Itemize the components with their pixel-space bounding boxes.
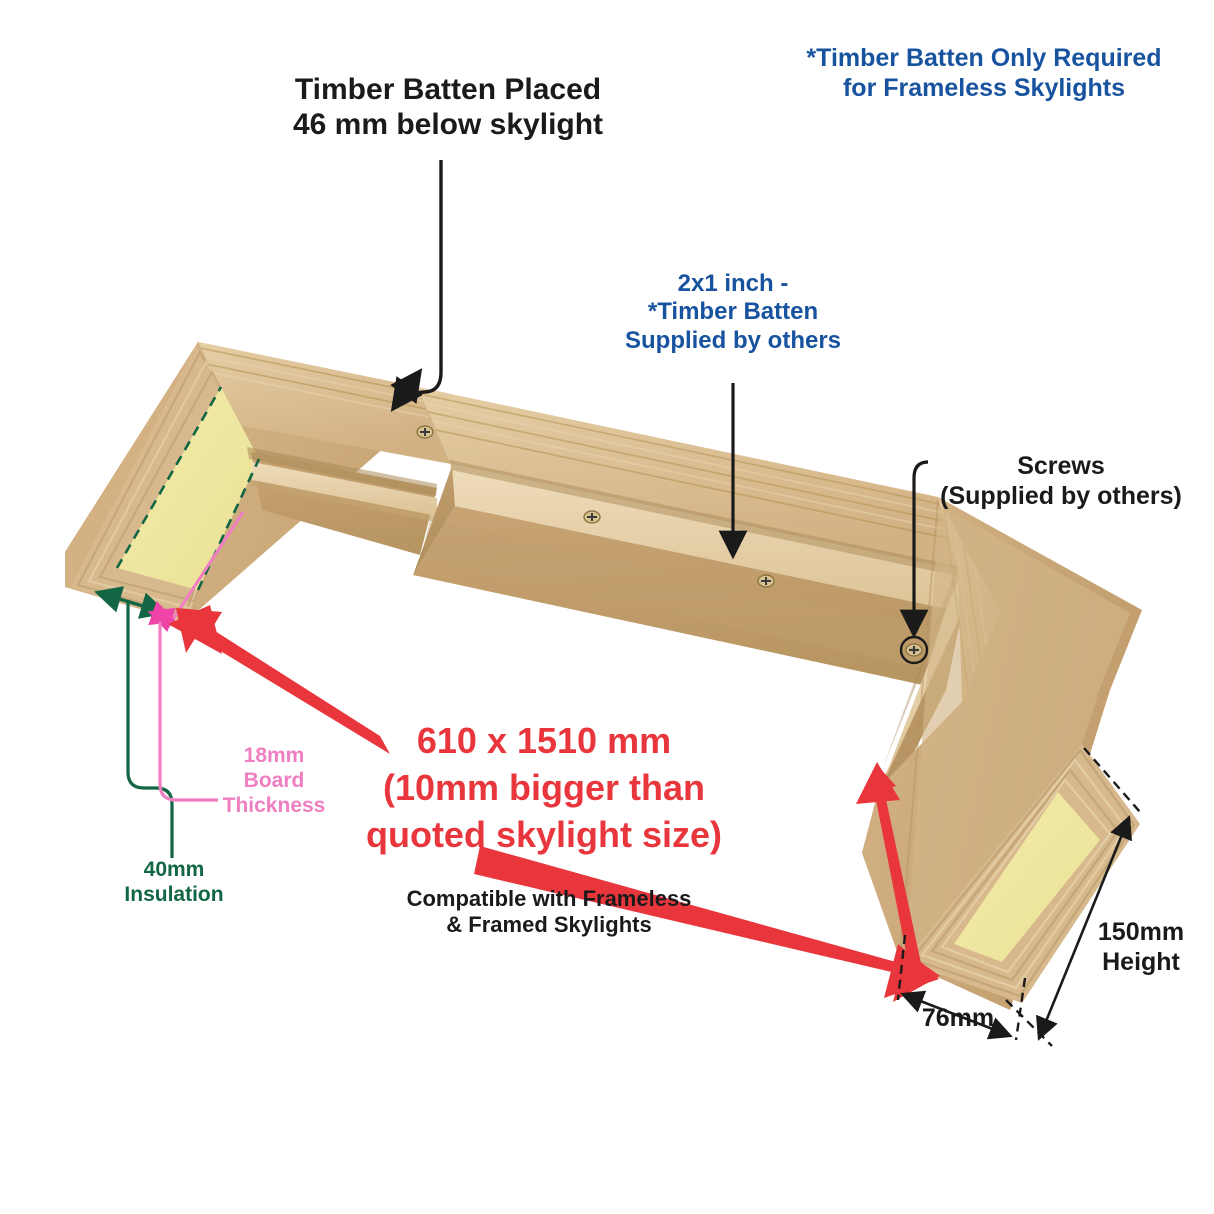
label-insulation: 40mm Insulation [100,858,248,908]
label-screws: Screws (Supplied by others) [914,452,1208,511]
leader-insulation [128,600,172,858]
label-depth-76mm: 76mm [906,1004,1010,1034]
insulation-dash-right [198,459,259,590]
label-height-150mm: 150mm Height [1076,918,1206,977]
label-batten-spec: 2x1 inch - *Timber Batten Supplied by ot… [596,270,870,355]
leader-batten-placement [415,160,441,393]
label-batten-placement: Timber Batten Placed 46 mm below skyligh… [248,72,648,143]
dim-arrow-46mm [395,374,418,406]
kerb-dimensions-black [898,748,1140,1046]
leader-board-thickness [160,622,218,800]
ext-line-depth-right [1016,978,1025,1040]
red-arrow-right-upper-head [856,762,900,804]
label-opening-size: 610 x 1510 mm (10mm bigger than quoted s… [330,718,758,858]
label-compatibility: Compatible with Frameless & Framed Skyli… [380,886,718,938]
annotation-overlay [0,0,1214,1214]
dim-arrow-board-thickness [152,613,172,620]
label-board-thickness: 18mm Board Thickness [212,744,336,818]
insulation-dash-left [117,387,221,568]
dim-arrow-insulation [99,593,163,612]
diagram-canvas: Timber Batten Placed 46 mm below skyligh… [0,0,1214,1214]
ext-line-height-top [1084,748,1140,812]
label-batten-note: *Timber Batten Only Required for Framele… [768,44,1200,103]
